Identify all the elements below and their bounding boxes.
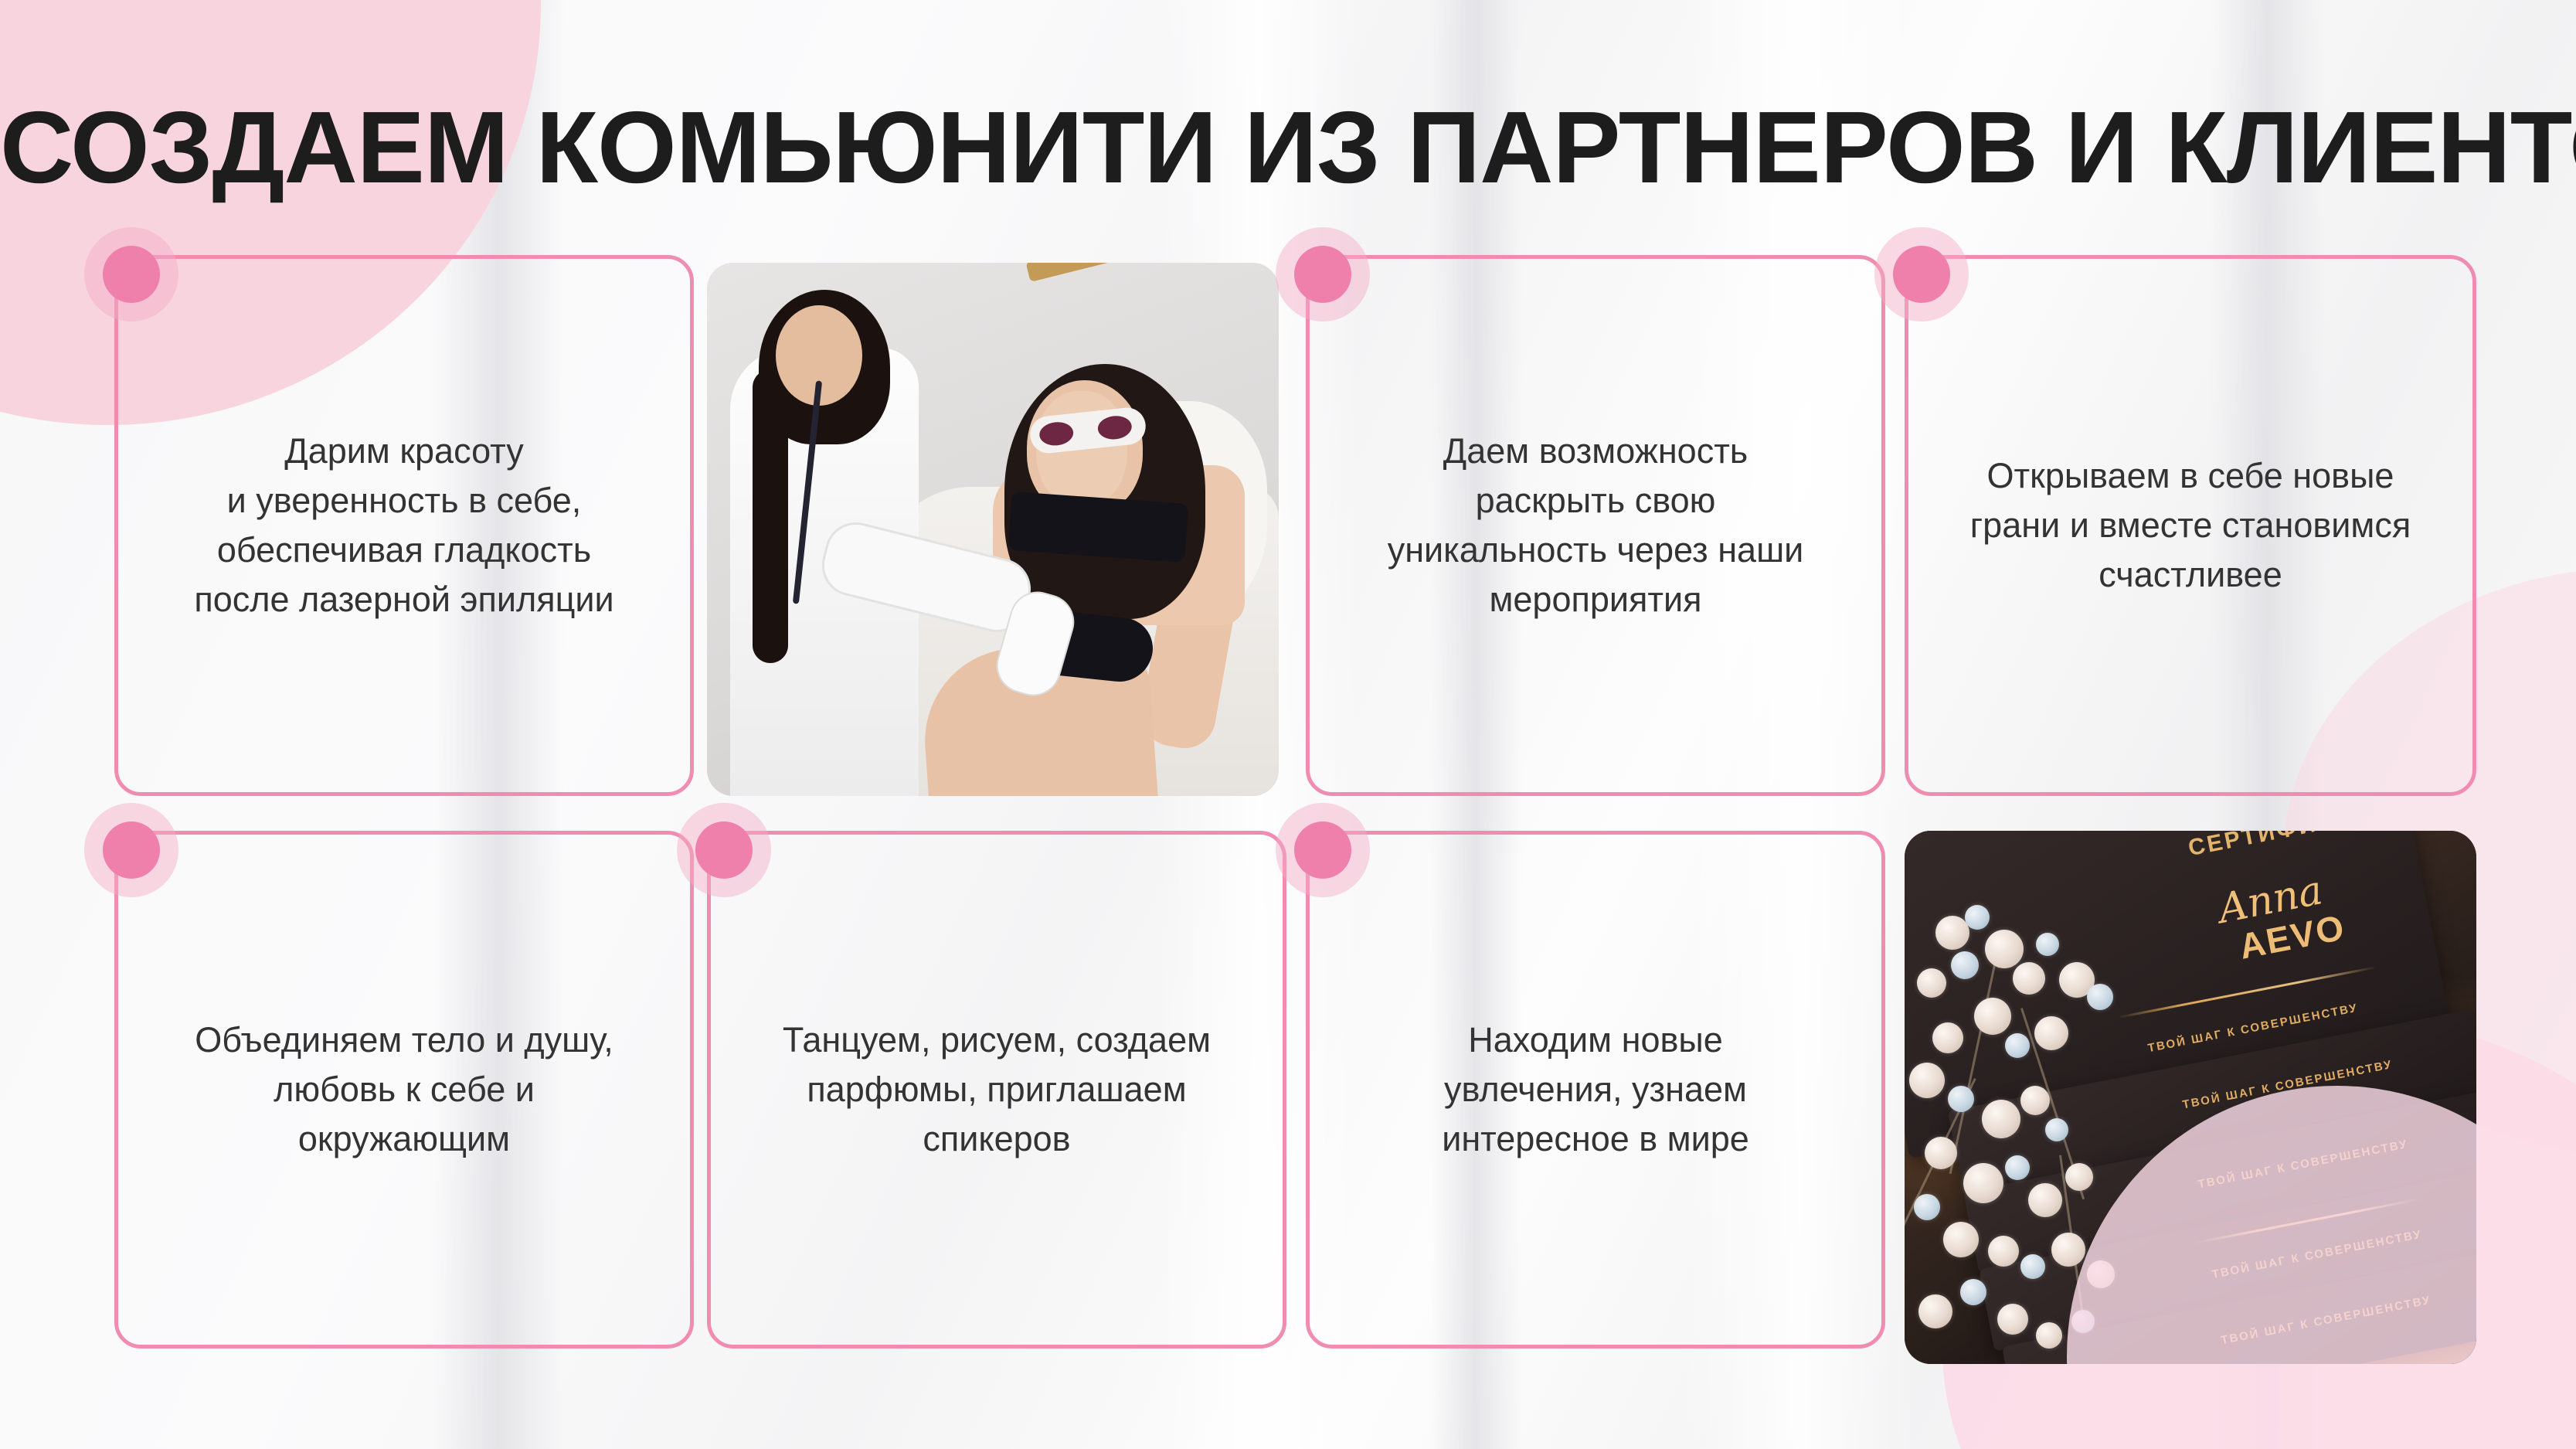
page-title: СОЗДАЕМ КОМЬЮНИТИ ИЗ ПАРТНЕРОВ И КЛИЕНТО… <box>0 94 2576 202</box>
feature-card-4: Объединяем тело и душу, любовь к себе и … <box>114 831 694 1349</box>
feature-card-2-text: Даем возможность раскрыть свою уникально… <box>1388 427 1804 624</box>
card-marker-dot-3 <box>1893 246 1950 303</box>
feature-card-3: Открываем в себе новые грани и вместе ст… <box>1905 255 2476 796</box>
feature-card-3-text: Открываем в себе новые грани и вместе ст… <box>1970 451 2411 600</box>
photo-laser-epilation <box>707 263 1279 796</box>
card-marker-dot-1 <box>103 246 160 303</box>
card-marker-dot-6 <box>1294 821 1351 879</box>
photo-gift-certificates: ПОДАРОЧНЫЙ СЕРТИФИКАТ Anna AEVO ТВОЙ ШАГ… <box>1905 831 2476 1364</box>
card-marker-dot-2 <box>1294 246 1351 303</box>
certificate-title-line2: СЕРТИФИКАТ <box>2186 831 2369 862</box>
feature-card-6: Находим новые увлечения, узнаем интересн… <box>1306 831 1885 1349</box>
slide-root: СОЗДАЕМ КОМЬЮНИТИ ИЗ ПАРТНЕРОВ И КЛИЕНТО… <box>0 0 2576 1449</box>
feature-card-1: Дарим красоту и уверенность в себе, обес… <box>114 255 694 796</box>
card-marker-dot-5 <box>695 821 753 879</box>
feature-card-6-text: Находим новые увлечения, узнаем интересн… <box>1442 1015 1749 1164</box>
feature-card-5-text: Танцуем, рисуем, создаем парфюмы, пригла… <box>783 1015 1211 1164</box>
card-marker-dot-4 <box>103 821 160 879</box>
feature-card-5: Танцуем, рисуем, создаем парфюмы, пригла… <box>707 831 1286 1349</box>
feature-card-4-text: Объединяем тело и душу, любовь к себе и … <box>195 1015 613 1164</box>
feature-card-1-text: Дарим красоту и уверенность в себе, обес… <box>194 427 613 624</box>
feature-card-2: Даем возможность раскрыть свою уникально… <box>1306 255 1885 796</box>
